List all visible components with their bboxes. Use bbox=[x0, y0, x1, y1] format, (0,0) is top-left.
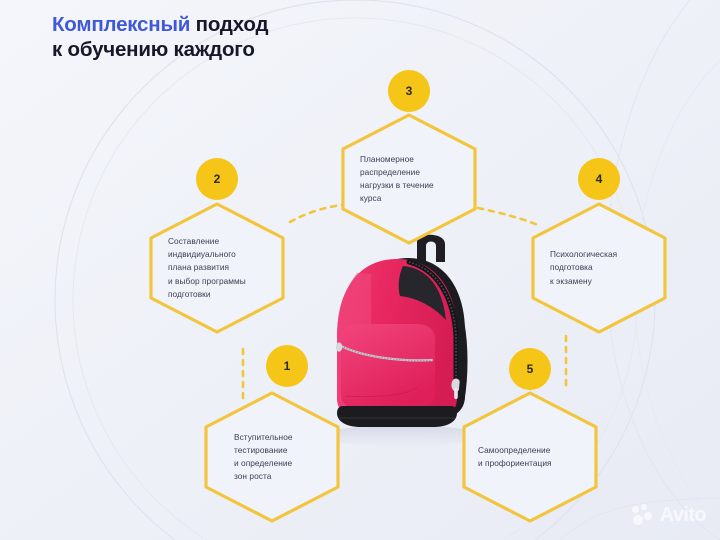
step-5-badge[interactable]: 5 bbox=[509, 348, 551, 390]
step-5-text: Самоопределение и профориентация bbox=[478, 444, 552, 470]
avito-watermark: Avito bbox=[632, 504, 706, 526]
avito-logo-icon bbox=[632, 504, 656, 526]
page-title: Комплексный подход к обучению каждого bbox=[52, 12, 268, 62]
step-hexagon-4[interactable]: Психологическая подготовка к экзамену bbox=[523, 199, 675, 337]
step-hexagon-1[interactable]: Вступительное тестирование и определение… bbox=[196, 388, 348, 526]
step-1-badge[interactable]: 1 bbox=[266, 345, 308, 387]
step-hexagon-2[interactable]: Составление индвидиуального плана развит… bbox=[141, 199, 293, 337]
step-5-number: 5 bbox=[527, 362, 534, 376]
step-1-text: Вступительное тестирование и определение… bbox=[234, 431, 293, 484]
page-title-rest: подход bbox=[190, 13, 268, 36]
step-3-number: 3 bbox=[406, 84, 413, 98]
step-1-number: 1 bbox=[284, 359, 291, 373]
step-2-badge[interactable]: 2 bbox=[196, 158, 238, 200]
infographic-slide: Комплексный подход к обучению каждого bbox=[0, 0, 720, 540]
step-4-badge[interactable]: 4 bbox=[578, 158, 620, 200]
step-2-text: Составление индвидиуального плана развит… bbox=[168, 235, 246, 301]
page-title-accent: Комплексный bbox=[52, 13, 190, 36]
page-title-line2: к обучению каждого bbox=[52, 37, 268, 62]
step-3-text: Планомерное распределение нагрузки в теч… bbox=[360, 153, 434, 206]
step-4-text: Психологическая подготовка к экзамену bbox=[550, 248, 617, 288]
step-2-number: 2 bbox=[214, 172, 221, 186]
step-4-number: 4 bbox=[596, 172, 603, 186]
step-hexagon-3[interactable]: Планомерное распределение нагрузки в теч… bbox=[333, 110, 485, 248]
step-3-badge[interactable]: 3 bbox=[388, 70, 430, 112]
step-hexagon-5[interactable]: Самоопределение и профориентация bbox=[454, 388, 606, 526]
avito-wordmark: Avito bbox=[660, 505, 706, 525]
